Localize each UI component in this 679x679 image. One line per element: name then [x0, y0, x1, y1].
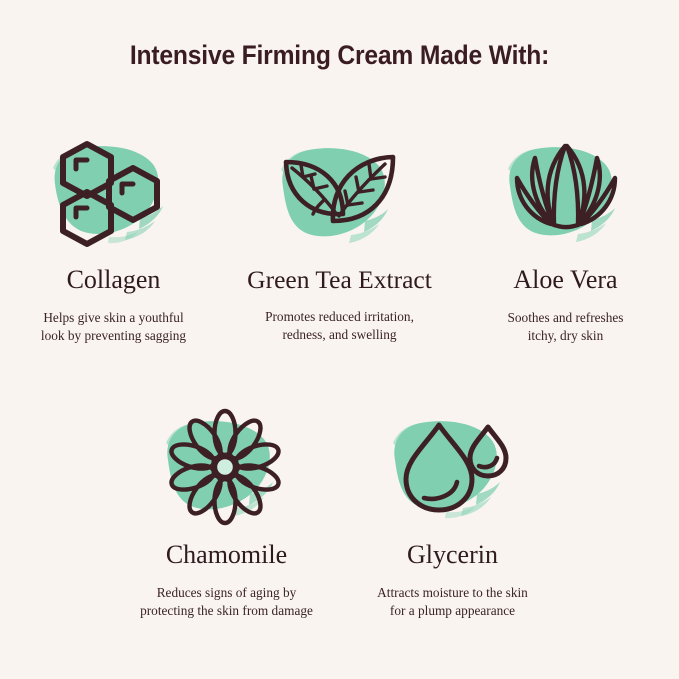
ingredient-card-green-tea-extract: Green Tea Extract Promotes reduced irrit… [227, 132, 453, 344]
green-tea-icon-container [265, 132, 415, 252]
flower-center [215, 457, 235, 477]
ingredient-title: Collagen [67, 266, 161, 295]
ingredient-description: Reduces signs of aging by protecting the… [140, 584, 313, 620]
ingredient-card-aloe-vera: Aloe Vera Soothes and refreshes itchy, d… [453, 132, 679, 344]
ingredient-card-glycerin: Glycerin Attracts moisture to the skin f… [340, 407, 566, 619]
ingredient-description: Soothes and refreshes itchy, dry skin [508, 309, 624, 345]
ingredient-description: Helps give skin a youthful look by preve… [41, 309, 186, 345]
collagen-icon-container [39, 132, 189, 252]
ingredient-description: Promotes reduced irritation, redness, an… [265, 308, 414, 344]
ingredient-row-2: Chamomile Reduces signs of aging by prot… [0, 407, 679, 619]
ingredient-title: Green Tea Extract [247, 266, 432, 294]
water-droplets-icon [378, 407, 528, 527]
ingredient-title: Aloe Vera [513, 266, 617, 295]
chamomile-flower-icon [152, 407, 302, 527]
ingredients-infographic: Intensive Firming Cream Made With: [0, 0, 679, 679]
ingredient-card-collagen: Collagen Helps give skin a youthful look… [1, 132, 227, 344]
honeycomb-hexagons-icon [39, 132, 189, 252]
ingredient-title: Chamomile [166, 541, 287, 570]
glycerin-icon-container [378, 407, 528, 527]
tea-leaves-icon [265, 132, 415, 252]
page-title: Intensive Firming Cream Made With: [24, 40, 655, 71]
ingredient-row-1: Collagen Helps give skin a youthful look… [0, 132, 679, 344]
chamomile-icon-container [152, 407, 302, 527]
aloe-plant-icon [491, 132, 641, 252]
ingredient-title: Glycerin [407, 541, 498, 570]
ingredient-description: Attracts moisture to the skin for a plum… [377, 584, 528, 620]
aloe-icon-container [491, 132, 641, 252]
ingredient-card-chamomile: Chamomile Reduces signs of aging by prot… [114, 407, 340, 619]
